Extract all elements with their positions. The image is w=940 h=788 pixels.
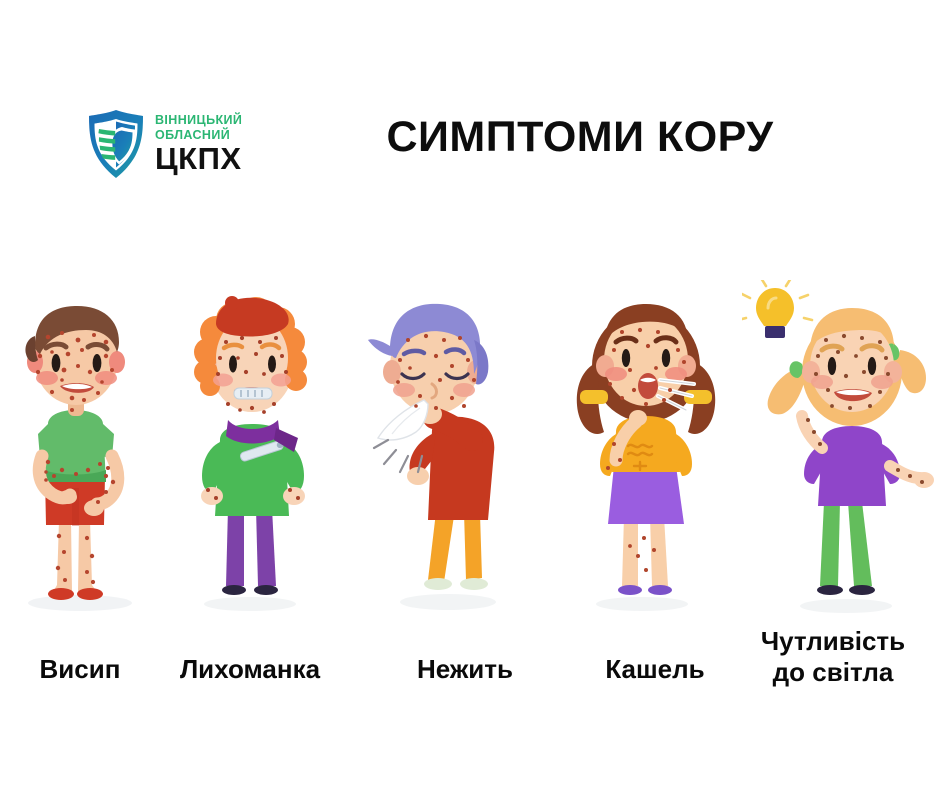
child-with-thermometer-illustration (168, 280, 336, 620)
organization-logo: ВІННИЦЬКИЙ ОБЛАСНИЙ ЦКПХ (85, 103, 260, 185)
symptom-label-fever: Лихоманка (150, 654, 350, 685)
symptom-label-runny-nose: Нежить (380, 654, 550, 685)
logo-subtitle-line1: ВІННИЦЬКИЙ (155, 114, 242, 127)
logo-subtitle-line2: ОБЛАСНИЙ (155, 129, 242, 142)
girl-light-sensitivity-illustration (742, 280, 938, 620)
symptom-label-light-sensitivity: Чутливість до світла (728, 626, 938, 687)
shield-logo-icon (85, 108, 147, 180)
lightbulb-icon (742, 280, 812, 338)
page-title: СИМПТОМИ КОРУ (300, 113, 860, 162)
symptom-labels-row: Висип Лихоманка Нежить Кашель Чутливість… (0, 626, 940, 726)
symptom-illustrations-row (0, 280, 940, 620)
boy-with-rash-illustration (2, 280, 162, 620)
symptom-label-rash: Висип (10, 654, 150, 685)
logo-acronym: ЦКПХ (155, 143, 242, 174)
symptom-label-cough: Кашель (570, 654, 740, 685)
logo-wordmark: ВІННИЦЬКИЙ ОБЛАСНИЙ ЦКПХ (155, 114, 242, 174)
poster-canvas: ВІННИЦЬКИЙ ОБЛАСНИЙ ЦКПХ СИМПТОМИ КОРУ (0, 0, 940, 788)
child-blowing-nose-illustration (348, 280, 518, 620)
girl-coughing-illustration (560, 280, 735, 620)
poster-header: ВІННИЦЬКИЙ ОБЛАСНИЙ ЦКПХ СИМПТОМИ КОРУ (0, 95, 940, 195)
